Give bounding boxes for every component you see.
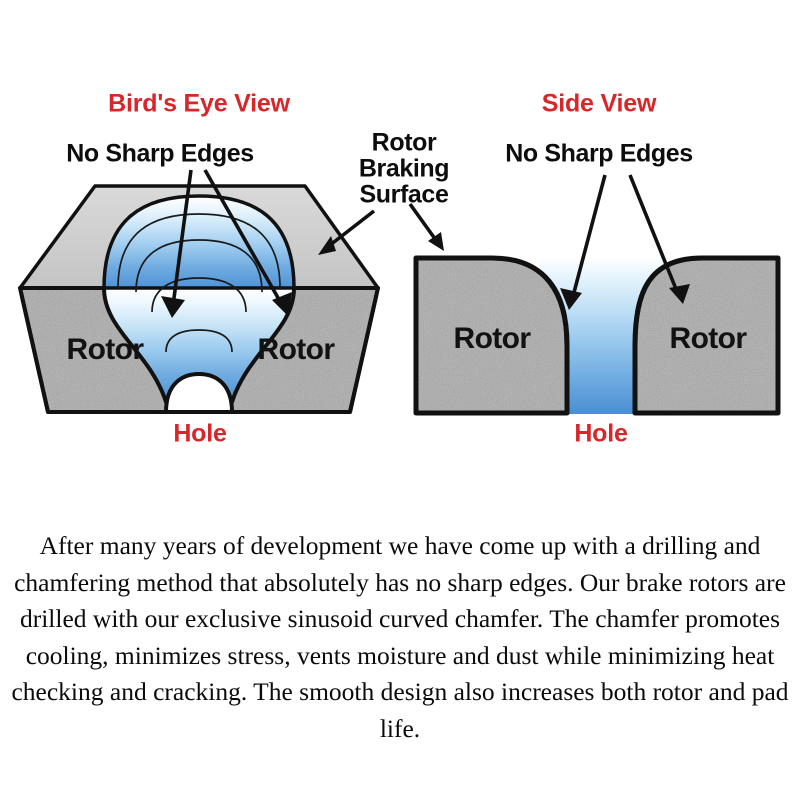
rotor-braking-surface-label: Rotor Braking Surface [359,129,449,209]
caption-paragraph: After many years of development we have … [6,528,794,747]
left-hole-label: Hole [173,420,227,448]
right-hole-label: Hole [574,420,628,448]
braking-surface-line-1: Rotor [372,129,437,157]
braking-surface-line-3: Surface [360,181,449,209]
right-no-sharp-edges-label: No Sharp Edges [505,140,693,168]
side-view-rotor-word-right: Rotor [670,322,748,355]
side-view-rotor-word-left: Rotor [454,322,532,355]
braking-surface-line-2: Braking [359,155,449,183]
left-block-rotor-word-right: Rotor [258,333,336,366]
side-view-diagram: Side View No Sharp Edges Rotor Rotor Hol… [410,90,778,448]
side-view-title: Side View [542,90,657,118]
birds-eye-view-diagram: Bird's Eye View No Sharp Edges Rotor Bra… [20,90,449,448]
birds-eye-view-title: Bird's Eye View [108,90,290,118]
left-block-rotor-word-left: Rotor [67,333,145,366]
left-no-sharp-edges-label: No Sharp Edges [66,140,254,168]
